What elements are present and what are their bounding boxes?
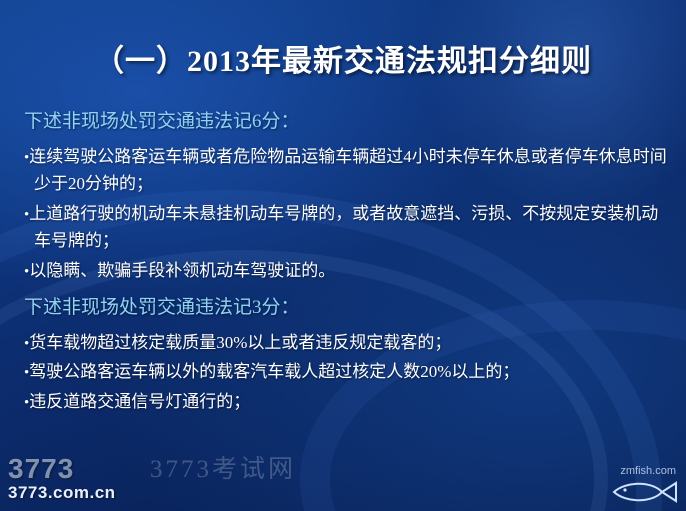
bullet-item: •违反道路交通信号灯通行的； [24, 388, 672, 416]
bullet-text: 货车载物超过核定载质量30%以上或者违反规定载客的； [29, 333, 451, 352]
bullet-text: 以隐瞒、欺骗手段补领机动车驾驶证的。 [29, 261, 335, 280]
bullet-item: •上道路行驶的机动车未悬挂机动车号牌的，或者故意遮挡、污损、不按规定安装机动车号… [24, 200, 672, 255]
bullet-item: •以隐瞒、欺骗手段补领机动车驾驶证的。 [24, 257, 672, 285]
watermark-brand-big: 3773 [8, 456, 116, 483]
watermark-brand-small: 3773.com.cn [8, 483, 116, 503]
bullet-item: •货车载物超过核定载质量30%以上或者违反规定载客的； [24, 329, 672, 357]
section-heading-1: 下述非现场处罚交通违法记6分： [24, 108, 672, 137]
slide: （一）2013年最新交通法规扣分细则 下述非现场处罚交通违法记6分： •连续驾驶… [0, 0, 686, 511]
slide-title: （一）2013年最新交通法规扣分细则 [0, 36, 686, 80]
bullet-item: •连续驾驶公路客运车辆或者危险物品运输车辆超过4小时未停车休息或者停车休息时间少… [24, 143, 672, 198]
watermark-brand: 3773 3773.com.cn [8, 456, 116, 503]
bullet-text: 上道路行驶的机动车未悬挂机动车号牌的，或者故意遮挡、污损、不按规定安装机动车号牌… [29, 204, 658, 251]
bullet-text: 连续驾驶公路客运车辆或者危险物品运输车辆超过4小时未停车休息或者停车休息时间少于… [29, 147, 667, 194]
watermark-site-text: zmfish.com [620, 465, 676, 477]
fish-logo-icon [612, 479, 678, 505]
bullet-text: 驾驶公路客运车辆以外的载客汽车载人超过核定人数20%以上的； [29, 362, 519, 381]
section-heading-2: 下述非现场处罚交通违法记3分： [24, 294, 672, 323]
bullet-text: 违反道路交通信号灯通行的； [29, 392, 250, 411]
slide-body: 下述非现场处罚交通违法记6分： •连续驾驶公路客运车辆或者危险物品运输车辆超过4… [24, 108, 672, 417]
bullet-item: •驾驶公路客运车辆以外的载客汽车载人超过核定人数20%以上的； [24, 358, 672, 386]
watermark-center-text: 3773考试网 [150, 449, 296, 485]
